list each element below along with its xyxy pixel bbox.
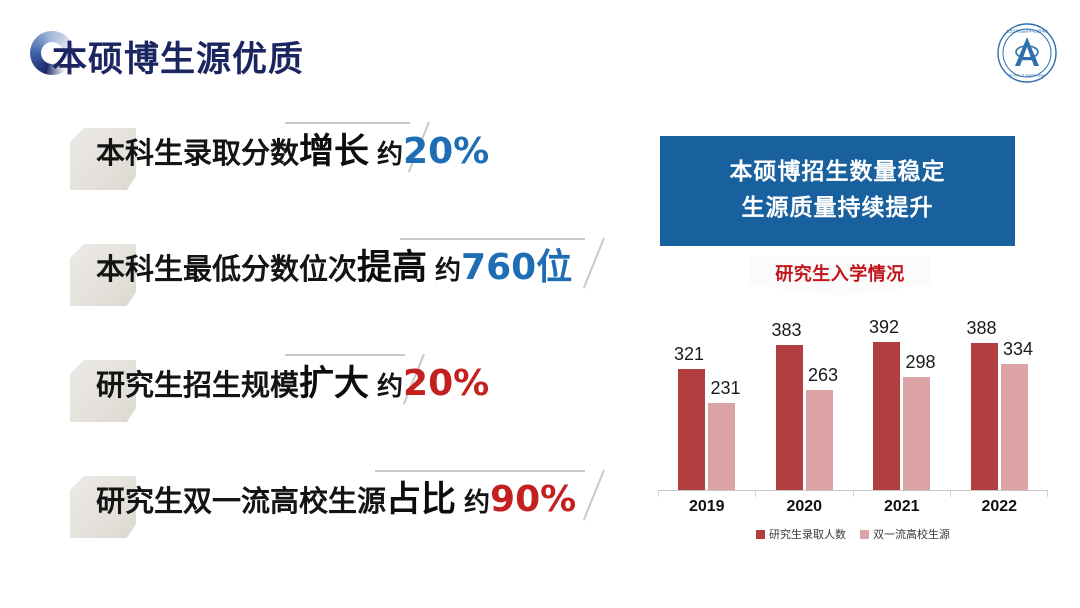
bullet-approx: 约 (464, 488, 490, 518)
axis-tick (658, 491, 659, 497)
bullet-approx: 约 (435, 256, 461, 286)
bar-value-label: 392 (869, 317, 899, 338)
slide-root: 本硕博生源优质 东北大学信息科学与工程学院 School of Automati… (0, 0, 1080, 608)
chart-plot-area: 321 231 383 263 392 (658, 312, 1048, 490)
bullet-value: 760位 (461, 247, 572, 288)
bar-light[interactable]: 263 (806, 390, 833, 490)
bullet-text: 研究生双一流高校生源占比约90% (96, 482, 576, 518)
bar-value-label: 321 (674, 344, 704, 365)
list-item[interactable]: 研究生双一流高校生源占比约90% (0, 466, 630, 582)
bullet-approx: 约 (377, 140, 403, 170)
legend-swatch-icon (860, 530, 869, 539)
bullet-text: 本科生录取分数增长约20% (96, 134, 489, 170)
axis-tick (1047, 491, 1048, 497)
callout-line-2: 生源质量持续提升 (742, 191, 934, 227)
legend-label: 双一流高校生源 (873, 526, 950, 542)
bar-value-label: 383 (772, 320, 802, 341)
bullet-approx: 约 (377, 372, 403, 402)
axis-tick (755, 491, 756, 497)
callout-box: 本硕博招生数量稳定 生源质量持续提升 (660, 136, 1015, 246)
bar-dark[interactable]: 392 (873, 342, 900, 490)
bar-light[interactable]: 231 (708, 403, 735, 490)
legend-item[interactable]: 研究生录取人数 (756, 526, 846, 542)
chart-legend: 研究生录取人数 双一流高校生源 (658, 526, 1048, 542)
bullet-value: 20% (403, 131, 489, 172)
bar-light[interactable]: 334 (1001, 364, 1028, 490)
bar-dark[interactable]: 321 (678, 369, 705, 490)
bullet-lead: 本科生录取分数 (96, 136, 299, 170)
chart-x-axis (658, 490, 1048, 491)
bar-dark[interactable]: 383 (776, 345, 803, 490)
admissions-bar-chart: 321 231 383 263 392 (650, 312, 1080, 562)
list-item[interactable]: 本科生录取分数增长约20% (0, 118, 630, 234)
x-tick-label: 2020 (761, 498, 847, 516)
callout-line-1: 本硕博招生数量稳定 (730, 155, 946, 191)
bullet-text: 研究生招生规模扩大约20% (96, 366, 489, 402)
bullet-lead: 研究生双一流高校生源 (96, 484, 386, 518)
bar-dark[interactable]: 388 (971, 343, 998, 490)
bar-group: 321 231 (664, 312, 750, 490)
right-panel: 本硕博招生数量稳定 生源质量持续提升 研究生入学情况 321 231 383 (650, 0, 1080, 608)
chart-title: 研究生入学情况 (775, 260, 905, 286)
x-tick-label: 2022 (956, 498, 1042, 516)
legend-item[interactable]: 双一流高校生源 (860, 526, 950, 542)
bar-value-label: 231 (710, 378, 740, 399)
page-title: 本硕博生源优质 (52, 31, 304, 82)
x-tick-label: 2021 (859, 498, 945, 516)
chart-x-labels: 2019 2020 2021 2022 (658, 498, 1048, 516)
axis-tick (950, 491, 951, 497)
list-item[interactable]: 本科生最低分数位次提高约760位 (0, 234, 630, 350)
axis-tick (853, 491, 854, 497)
x-tick-label: 2019 (664, 498, 750, 516)
bullet-value: 90% (490, 479, 576, 520)
bullet-value: 20% (403, 363, 489, 404)
bar-value-label: 298 (905, 352, 935, 373)
legend-label: 研究生录取人数 (769, 526, 846, 542)
bar-group: 383 263 (761, 312, 847, 490)
bullet-lead: 研究生招生规模 (96, 368, 299, 402)
bullet-text: 本科生最低分数位次提高约760位 (96, 250, 572, 286)
chart-title-ribbon: 研究生入学情况 (750, 256, 930, 296)
bullet-lead: 本科生最低分数位次 (96, 252, 357, 286)
bar-light[interactable]: 298 (903, 377, 930, 490)
bullet-emphasis: 提高 (357, 248, 427, 288)
legend-swatch-icon (756, 530, 765, 539)
bullet-emphasis: 扩大 (299, 364, 369, 404)
bullet-list: 本科生录取分数增长约20% 本科生最低分数位次提高约760位 研究生招生规模扩大… (0, 118, 630, 582)
bar-value-label: 263 (808, 365, 838, 386)
bullet-emphasis: 占比 (386, 480, 456, 520)
bar-group: 392 298 (859, 312, 945, 490)
bar-value-label: 388 (967, 318, 997, 339)
bar-value-label: 334 (1003, 339, 1033, 360)
bar-group: 388 334 (956, 312, 1042, 490)
list-item[interactable]: 研究生招生规模扩大约20% (0, 350, 630, 466)
bullet-emphasis: 增长 (299, 132, 369, 172)
